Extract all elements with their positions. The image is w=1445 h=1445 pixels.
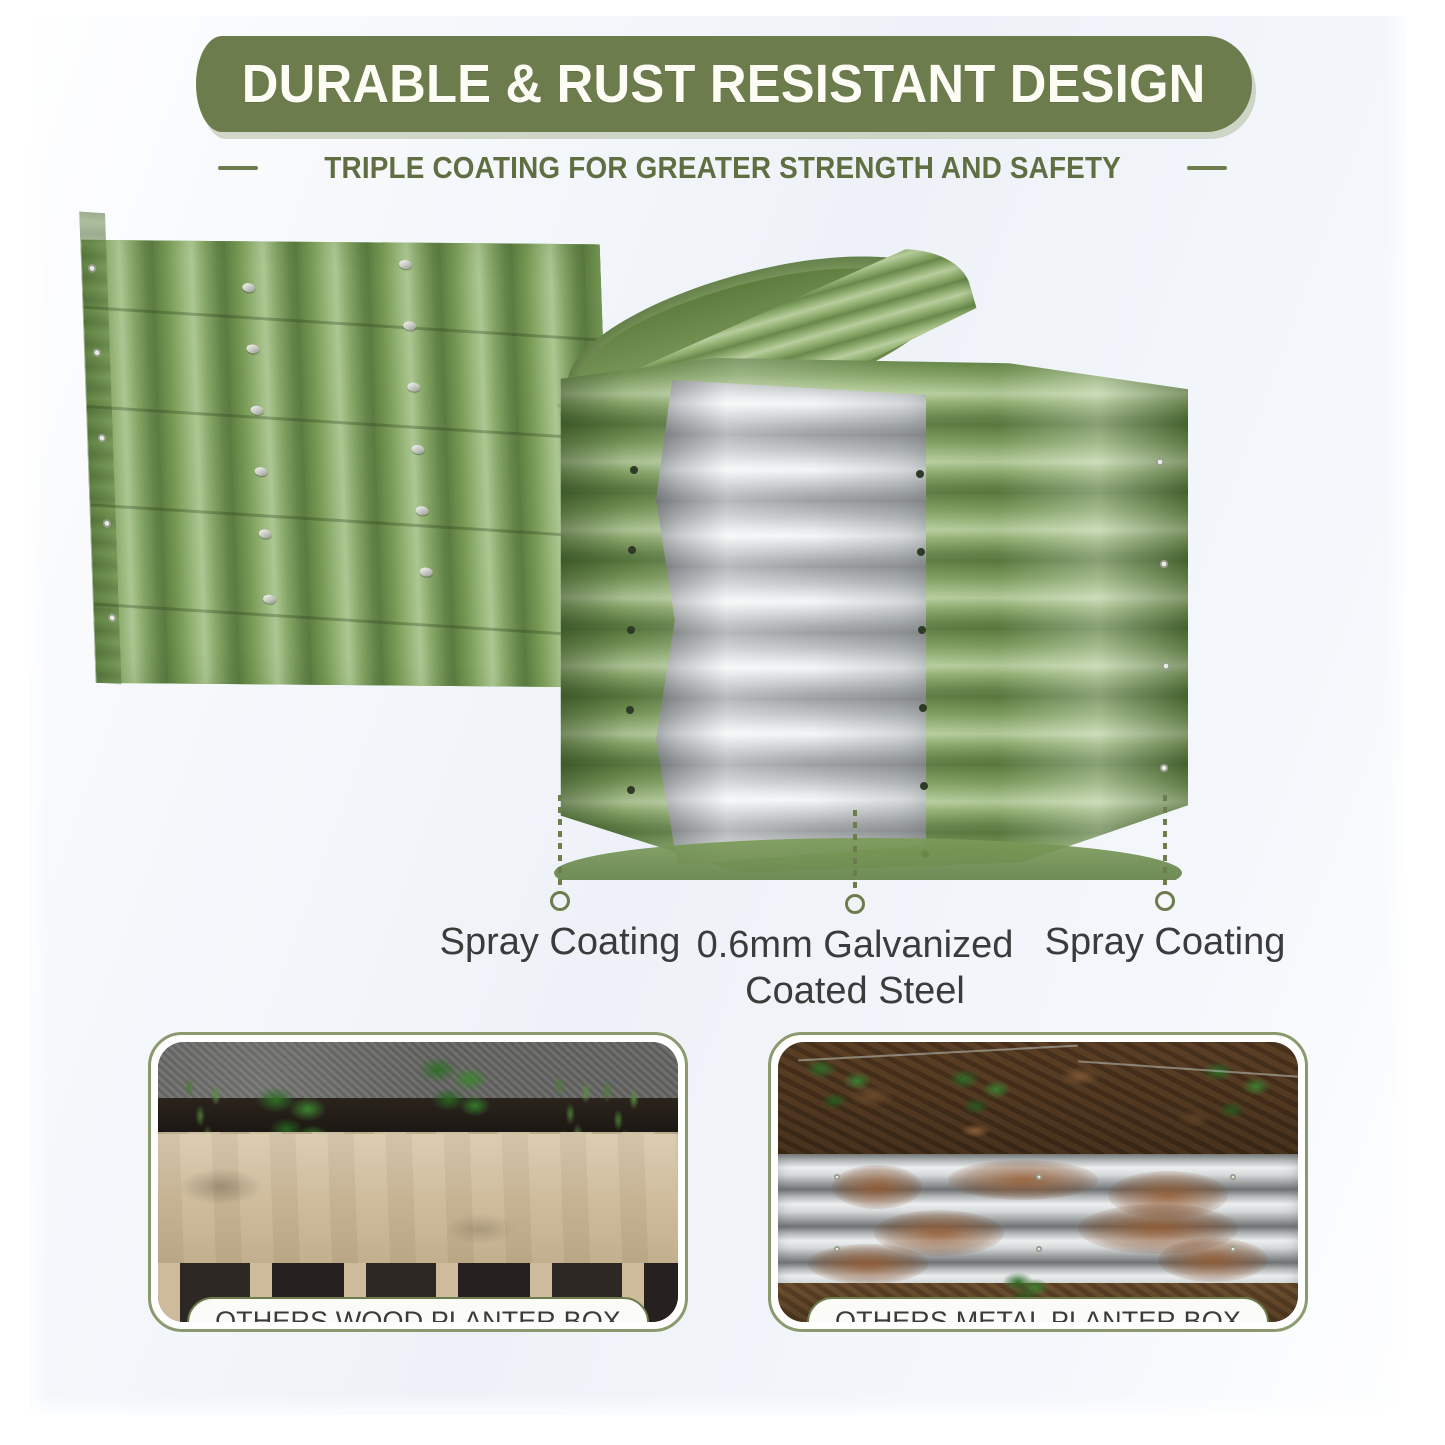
rust-stain (808, 1244, 928, 1284)
rivet-hole-icon (98, 434, 106, 443)
rivet-hole-icon (1160, 560, 1168, 568)
infographic-page: DURABLE & RUST RESISTANT DESIGN TRIPLE C… (0, 0, 1445, 1445)
rust-stain (832, 1165, 922, 1209)
callout-label-line1: 0.6mm Galvanized (697, 924, 1014, 967)
rivet-hole-icon (628, 546, 636, 554)
callout-label: Spray Coating (440, 921, 681, 964)
rivet-hole-icon (916, 470, 924, 478)
plant-foliage (938, 1060, 1024, 1124)
rivet-hole-icon (920, 782, 928, 790)
callout-dotted-line (1163, 795, 1167, 887)
callout-dotted-line (853, 810, 857, 890)
rivet-hole-icon (108, 613, 116, 622)
subtitle-row: TRIPLE COATING FOR GREATER STRENGTH AND … (0, 150, 1445, 186)
dash-left-icon (218, 166, 258, 170)
screw-icon (420, 567, 433, 577)
rivet-hole-icon (918, 626, 926, 634)
rivet-hole-icon (917, 548, 925, 556)
planter-front-boards (158, 1134, 678, 1266)
rust-stain (1158, 1238, 1268, 1282)
rivet-hole-icon (1160, 764, 1168, 772)
green-corrugated-panel (80, 212, 616, 716)
basil-plant (408, 1048, 496, 1126)
comparison-card-metal: OTHERS METAL PLANTER BOX (768, 1032, 1308, 1332)
dash-right-icon (1187, 166, 1227, 170)
galvanized-steel-cutaway (656, 370, 926, 870)
wood-planter-photo: OTHERS WOOD PLANTER BOX (158, 1042, 678, 1322)
plant-foliage (1188, 1044, 1288, 1136)
comparison-card-wood: OTHERS WOOD PLANTER BOX (148, 1032, 688, 1332)
cutaway-shading (656, 370, 926, 870)
product-hero-illustration (0, 210, 1445, 910)
rivet-icon (1036, 1174, 1042, 1180)
metal-planter-photo: OTHERS METAL PLANTER BOX (778, 1042, 1298, 1322)
rivet-icon (834, 1174, 840, 1180)
card-caption: OTHERS WOOD PLANTER BOX (187, 1297, 649, 1322)
callout-label-line2: Coated Steel (745, 970, 965, 1013)
rivet-hole-icon (1162, 662, 1170, 670)
banner-title-pill: DURABLE & RUST RESISTANT DESIGN (196, 36, 1252, 132)
page-gutter-bottom (0, 1415, 1445, 1445)
rivet-hole-icon (88, 264, 96, 273)
callout-label: Spray Coating (1045, 921, 1286, 964)
cylinder-bottom-lip (554, 838, 1182, 908)
page-gutter-top (0, 0, 1445, 16)
rivet-hole-icon (1156, 458, 1164, 466)
subtitle: TRIPLE COATING FOR GREATER STRENGTH AND … (324, 150, 1121, 186)
callout-ring-icon (550, 891, 570, 911)
rivet-hole-icon (627, 626, 635, 634)
card-caption: OTHERS METAL PLANTER BOX (807, 1297, 1269, 1322)
rivet-hole-icon (103, 519, 111, 528)
rivet-hole-icon (627, 786, 635, 794)
rivet-hole-icon (630, 466, 638, 474)
rivet-hole-icon (626, 706, 634, 714)
rust-stain (948, 1160, 1098, 1200)
callout-ring-icon (845, 894, 865, 914)
rivet-hole-icon (919, 704, 927, 712)
callout-dotted-line (558, 795, 562, 887)
page-title: DURABLE & RUST RESISTANT DESIGN (242, 53, 1206, 115)
green-cylinder-bed (548, 270, 1188, 900)
callout-ring-icon (1155, 891, 1175, 911)
rivet-icon (1230, 1174, 1236, 1180)
panel-surface (80, 212, 616, 716)
